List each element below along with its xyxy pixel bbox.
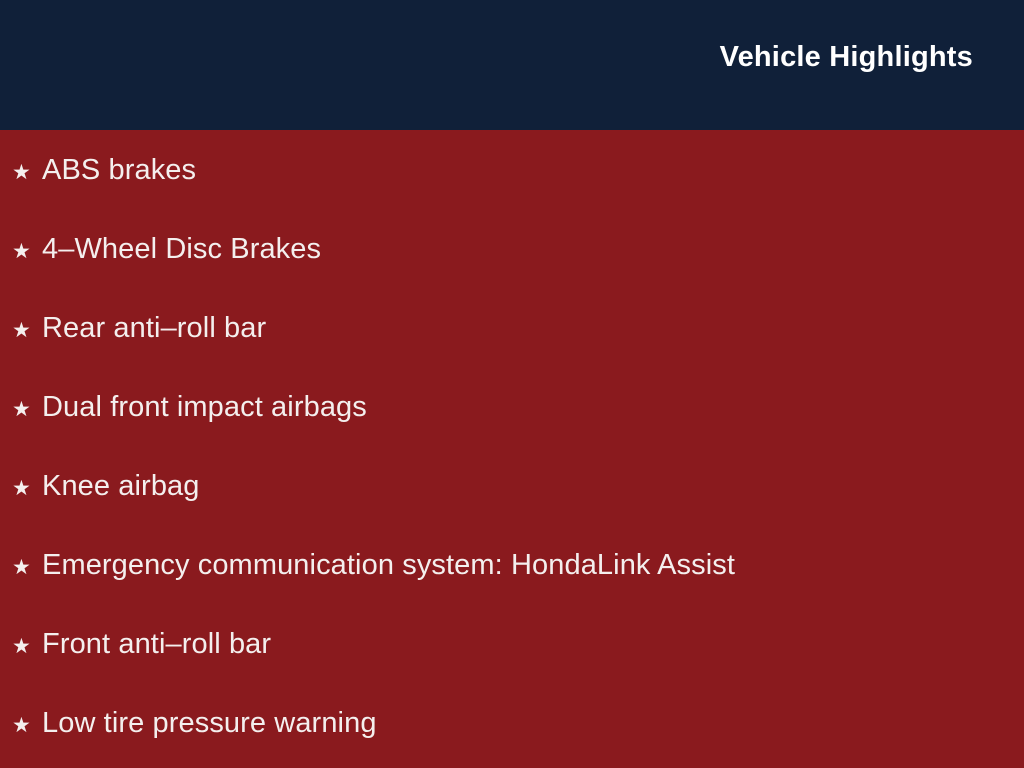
star-icon: ★ [12, 708, 42, 744]
list-item-label: Dual front impact airbags [42, 389, 984, 425]
list-item-label: Low tire pressure warning [42, 705, 984, 741]
list-item: ★ Rear anti–roll bar [12, 310, 984, 389]
list-item: ★ Knee airbag [12, 468, 984, 547]
list-item: ★ 4–Wheel Disc Brakes [12, 231, 984, 310]
list-item: ★ Emergency communication system: HondaL… [12, 547, 984, 626]
list-item-label: Rear anti–roll bar [42, 310, 984, 346]
list-item-label: Knee airbag [42, 468, 984, 504]
page-title: Vehicle Highlights [720, 42, 973, 74]
list-item: ★ Low tire pressure warning [12, 705, 984, 768]
star-icon: ★ [12, 629, 42, 665]
list-item: ★ ABS brakes [12, 152, 984, 231]
star-icon: ★ [12, 392, 42, 428]
list-item-label: Emergency communication system: HondaLin… [42, 547, 984, 583]
star-icon: ★ [12, 313, 42, 349]
star-icon: ★ [12, 471, 42, 507]
list-item-label: 4–Wheel Disc Brakes [42, 231, 984, 267]
list-item-label: ABS brakes [42, 152, 984, 188]
vehicle-highlights-slide: Vehicle Highlights ★ ABS brakes ★ 4–Whee… [0, 0, 1024, 768]
vehicle-highlights-list: ★ ABS brakes ★ 4–Wheel Disc Brakes ★ Rea… [12, 152, 984, 768]
star-icon: ★ [12, 155, 42, 191]
list-item: ★ Front anti–roll bar [12, 626, 984, 705]
star-icon: ★ [12, 234, 42, 270]
star-icon: ★ [12, 550, 42, 586]
list-item: ★ Dual front impact airbags [12, 389, 984, 468]
slide-body: ★ ABS brakes ★ 4–Wheel Disc Brakes ★ Rea… [0, 130, 1024, 768]
slide-header: Vehicle Highlights [0, 0, 1024, 130]
list-item-label: Front anti–roll bar [42, 626, 984, 662]
